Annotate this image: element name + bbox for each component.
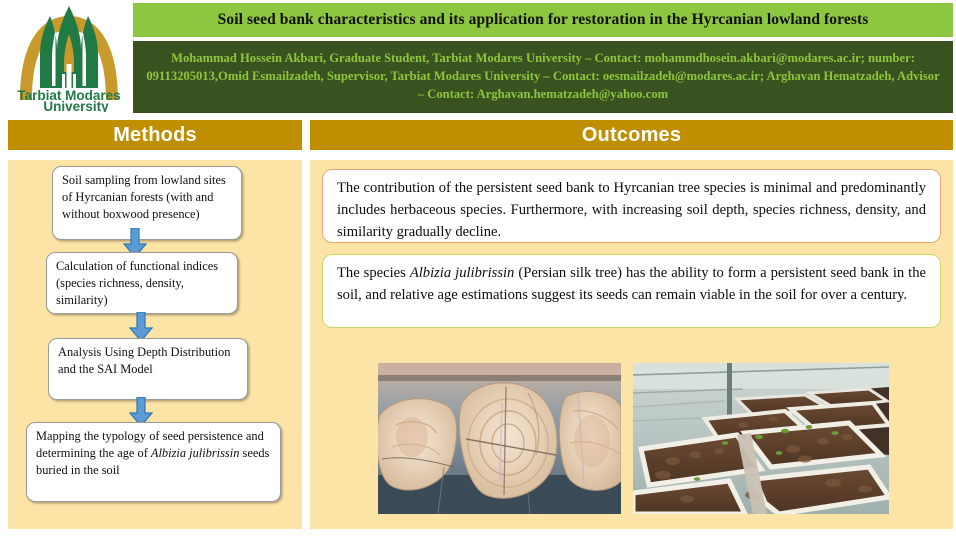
outcome-statement-1: The contribution of the persistent seed … [322,169,941,243]
tree-trunk-cross-sections-photo [378,363,621,514]
page-title: Soil seed bank characteristics and its a… [212,11,875,29]
poster-title-bar: Soil seed bank characteristics and its a… [133,3,953,37]
method-step-4: Mapping the typology of seed persistence… [26,422,281,502]
method-step-2: Calculation of functional indices (speci… [46,252,238,314]
method-step-1: Soil sampling from lowland sites of Hyrc… [52,166,242,240]
method-step-3: Analysis Using Depth Distribution and th… [48,338,248,400]
section-header-outcomes: Outcomes [310,120,953,150]
outcome-1-text: The contribution of the persistent seed … [337,180,926,240]
wood-discs-image [378,363,621,514]
methods-panel: Soil sampling from lowland sites of Hyrc… [8,160,302,529]
method-step-1-text: Soil sampling from lowland sites of Hyrc… [62,173,226,221]
logo-line-2: University [43,99,109,112]
section-header-methods: Methods [8,120,302,150]
poster-header: Tarbiat Modares University Soil seed ban… [0,0,956,115]
outcome-2-text-pre: The species [337,265,410,281]
method-step-3-text: Analysis Using Depth Distribution and th… [58,345,230,376]
outcome-2-species-name: Albizia julibrissin [410,265,515,281]
tarbiat-modares-university-logo-icon: Tarbiat Modares University [10,4,128,112]
outcomes-panel: The contribution of the persistent seed … [310,160,953,529]
authors-contact-bar: Mohammad Hossein Akbari, Graduate Studen… [133,41,953,113]
method-step-4-species-name: Albizia julibrissin [151,446,239,460]
university-logo: Tarbiat Modares University [8,2,130,114]
outcome-statement-2: The species Albizia julibrissin (Persian… [322,254,941,328]
greenhouse-soil-seed-bank-trays-photo [633,363,889,514]
outcomes-heading: Outcomes [582,124,681,147]
germination-trays-image [633,363,889,514]
methods-heading: Methods [113,124,197,147]
authors-contact-text: Mohammad Hossein Akbari, Graduate Studen… [133,50,953,104]
method-step-2-text: Calculation of functional indices (speci… [56,259,218,307]
